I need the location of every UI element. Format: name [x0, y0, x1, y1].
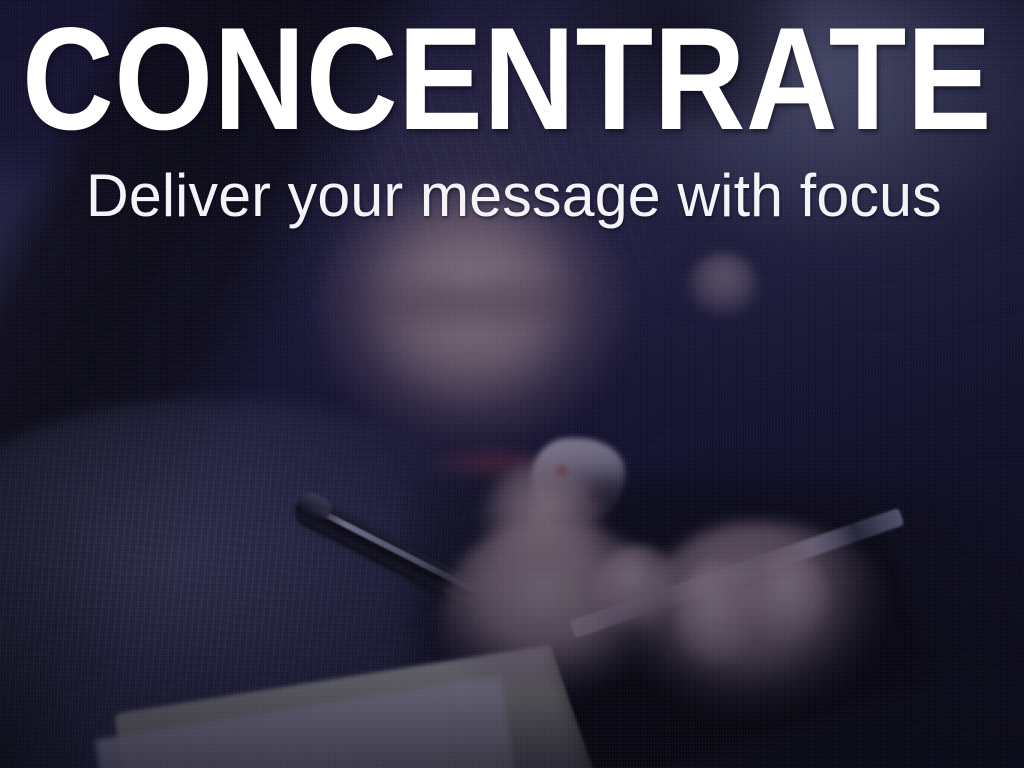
slide-title: CONCENTRATE [22, 6, 879, 152]
slide-subtitle: Deliver your message with focus [86, 166, 942, 226]
presentation-slide: CONCENTRATE Deliver your message with fo… [0, 0, 1024, 768]
face-eye-shadow [338, 276, 604, 330]
writing-hand-knuckles [481, 461, 604, 584]
